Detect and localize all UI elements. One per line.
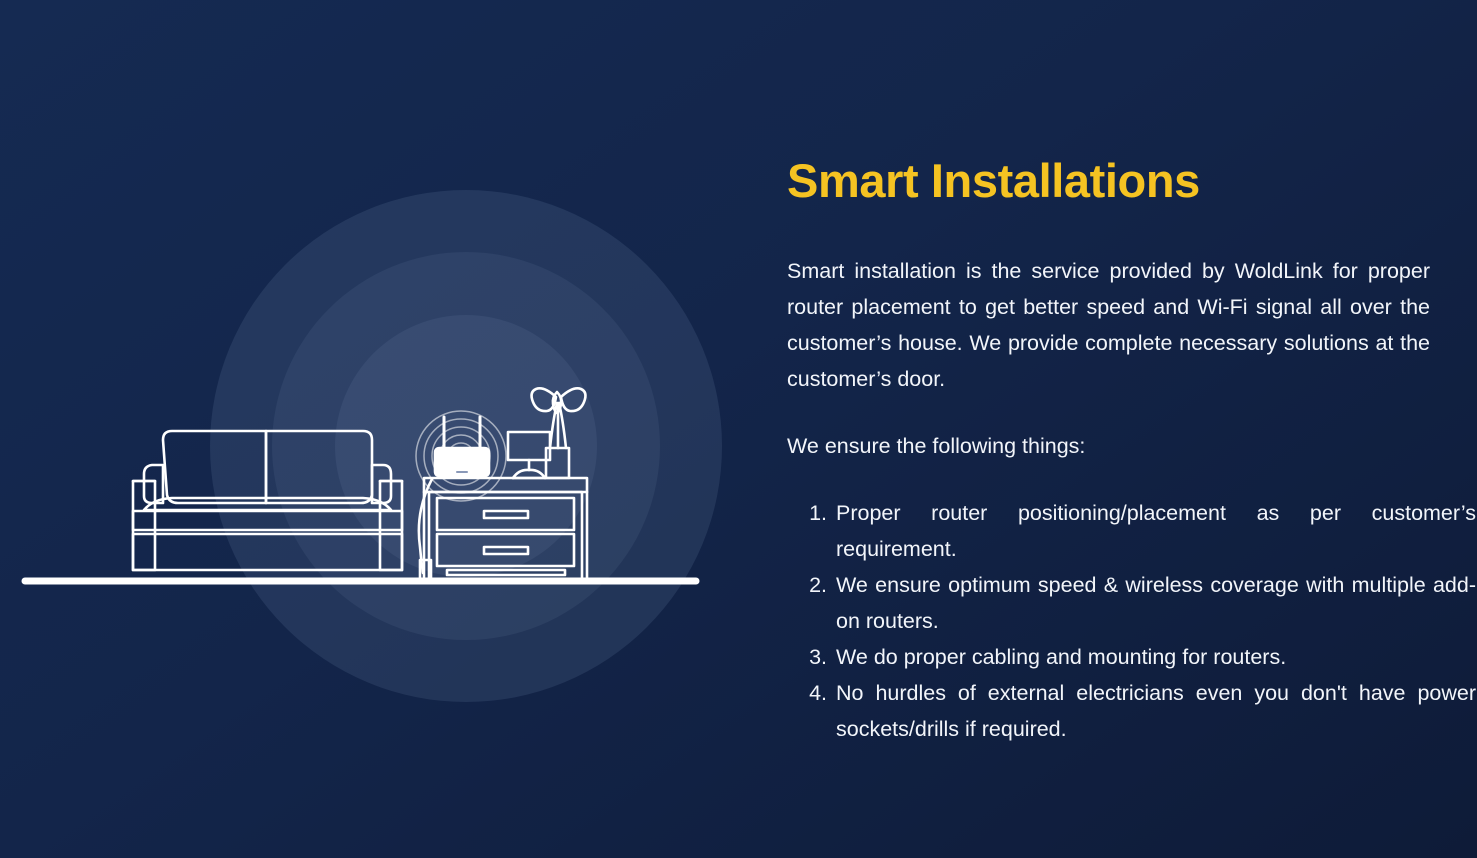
page-title: Smart Installations: [787, 155, 1432, 208]
ensure-heading: We ensure the following things:: [787, 428, 1430, 464]
line-art-svg: [0, 0, 760, 858]
dresser-icon: [424, 478, 587, 580]
list-item: Proper router positioning/placement as p…: [833, 495, 1476, 567]
wifi-router-icon: [435, 417, 489, 476]
intro-paragraph: Smart installation is the service provid…: [787, 253, 1430, 397]
list-item: We ensure optimum speed & wireless cover…: [833, 567, 1476, 639]
text-panel: Smart Installations Smart installation i…: [787, 0, 1432, 858]
list-item: We do proper cabling and mounting for ro…: [833, 639, 1476, 675]
table-lamp-icon: [508, 432, 550, 478]
illustration-living-room: [0, 0, 760, 858]
ensure-list: Proper router positioning/placement as p…: [787, 495, 1476, 747]
list-item: No hurdles of external electricians even…: [833, 675, 1476, 747]
sofa-icon: [133, 431, 402, 570]
slide-smart-installations: Smart Installations Smart installation i…: [0, 0, 1477, 858]
